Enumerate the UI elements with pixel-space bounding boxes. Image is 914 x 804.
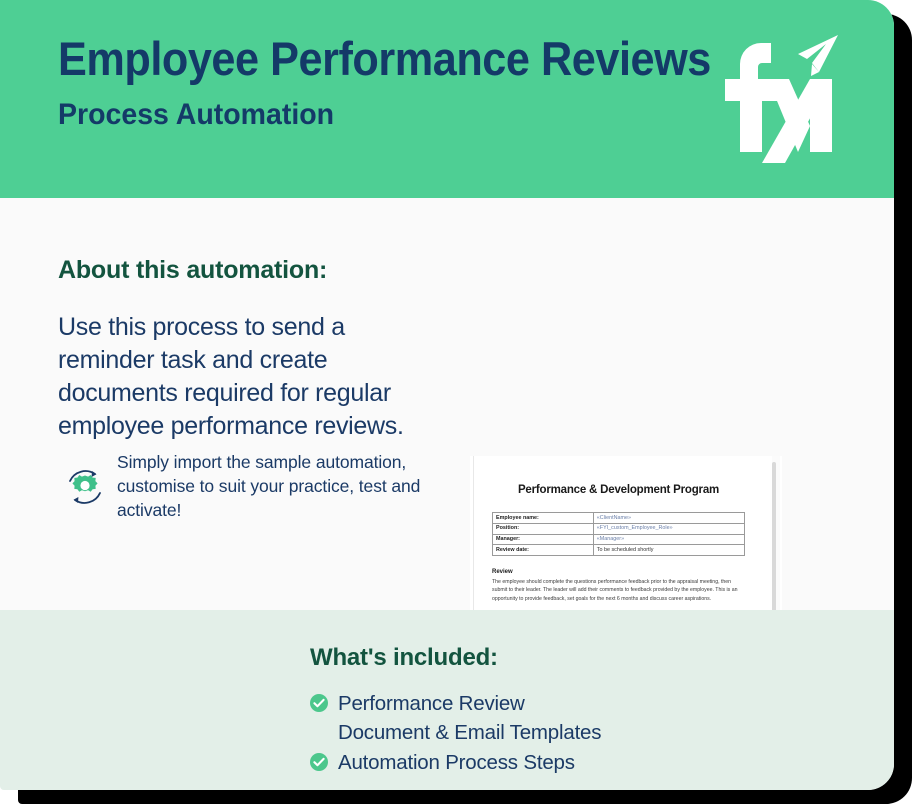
- field-label: Manager:: [493, 534, 594, 545]
- field-value: «FYI_custom_Employee_Role»: [593, 523, 744, 534]
- list-item: Automation Process Steps: [310, 749, 640, 776]
- list-item-label: Document & Email Templates: [338, 719, 601, 746]
- document-section-body: The employee should complete the questio…: [492, 578, 745, 603]
- tip-text: Simply import the sample automation, cus…: [117, 451, 422, 522]
- field-value: «Manager»: [593, 534, 744, 545]
- page-subtitle: Process Automation: [58, 97, 732, 133]
- about-heading: About this automation:: [58, 256, 428, 285]
- included-section: What's included: Performance Review Docu…: [0, 610, 894, 790]
- document-title: Performance & Development Program: [492, 484, 745, 496]
- document-fields-table: Employee name: «ClientName» Position: «F…: [492, 512, 745, 556]
- included-heading: What's included:: [310, 644, 640, 672]
- list-item: Document & Email Templates: [310, 719, 640, 746]
- included-inner: What's included: Performance Review Docu…: [310, 644, 640, 776]
- header-text-group: Employee Performance Reviews Process Aut…: [58, 32, 768, 133]
- field-value: «ClientName»: [593, 513, 744, 524]
- field-label: Review date:: [493, 545, 594, 556]
- table-row: Review date: To be scheduled shortly: [493, 545, 745, 556]
- header-banner: Employee Performance Reviews Process Aut…: [0, 0, 894, 198]
- table-row: Employee name: «ClientName»: [493, 513, 745, 524]
- tip-callout: Simply import the sample automation, cus…: [62, 451, 422, 522]
- field-label: Position:: [493, 523, 594, 534]
- page-title: Employee Performance Reviews: [58, 32, 711, 86]
- table-row: Manager: «Manager»: [493, 534, 745, 545]
- list-indent-spacer: [310, 719, 328, 720]
- document-section-title: Review: [492, 569, 745, 575]
- list-item: Performance Review: [310, 690, 640, 717]
- about-section: About this automation: Use this process …: [58, 256, 428, 443]
- field-label: Employee name:: [493, 513, 594, 524]
- fyi-logo: [706, 22, 846, 167]
- list-item-label: Performance Review: [338, 690, 525, 717]
- gear-refresh-icon: [62, 464, 108, 510]
- about-body: Use this process to send a reminder task…: [58, 311, 428, 443]
- table-row: Position: «FYI_custom_Employee_Role»: [493, 523, 745, 534]
- list-item-label: Automation Process Steps: [338, 749, 575, 776]
- automation-card: Employee Performance Reviews Process Aut…: [0, 0, 894, 790]
- field-value: To be scheduled shortly: [593, 545, 744, 556]
- check-circle-icon: [310, 753, 328, 771]
- check-circle-icon: [310, 694, 328, 712]
- main-content: About this automation: Use this process …: [0, 198, 894, 610]
